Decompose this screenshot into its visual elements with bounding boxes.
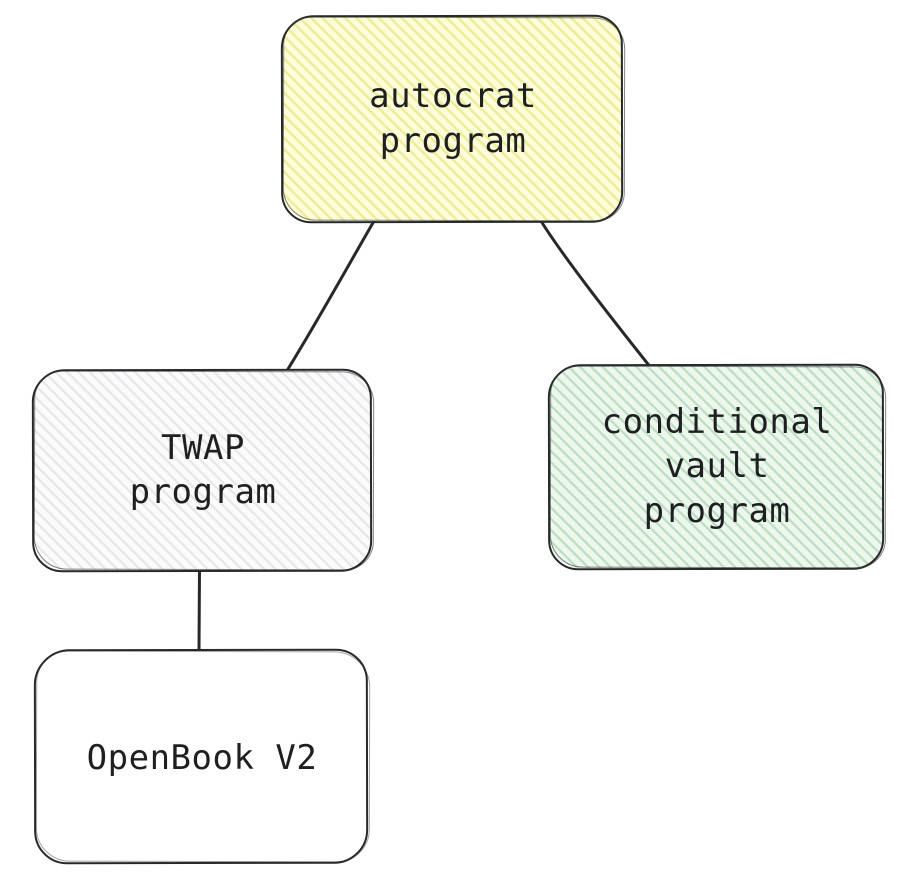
edge-autocrat-vault — [541, 221, 651, 368]
node-autocrat-program[interactable]: autocrat program — [283, 16, 623, 221]
node-twap-program[interactable]: TWAP program — [34, 370, 372, 570]
node-conditional-vault-program-label: conditional vault program — [602, 400, 833, 533]
node-openbook-v2[interactable]: OpenBook V2 — [36, 650, 368, 862]
node-conditional-vault-program[interactable]: conditional vault program — [550, 365, 884, 568]
diagram-canvas: autocrat program TWAP program conditiona… — [0, 0, 902, 872]
node-twap-program-label: TWAP program — [130, 426, 277, 514]
node-openbook-v2-label: OpenBook V2 — [87, 736, 318, 780]
edge-autocrat-twap — [288, 221, 374, 369]
node-autocrat-program-label: autocrat program — [369, 74, 537, 162]
edge-twap-openbook — [199, 569, 200, 651]
